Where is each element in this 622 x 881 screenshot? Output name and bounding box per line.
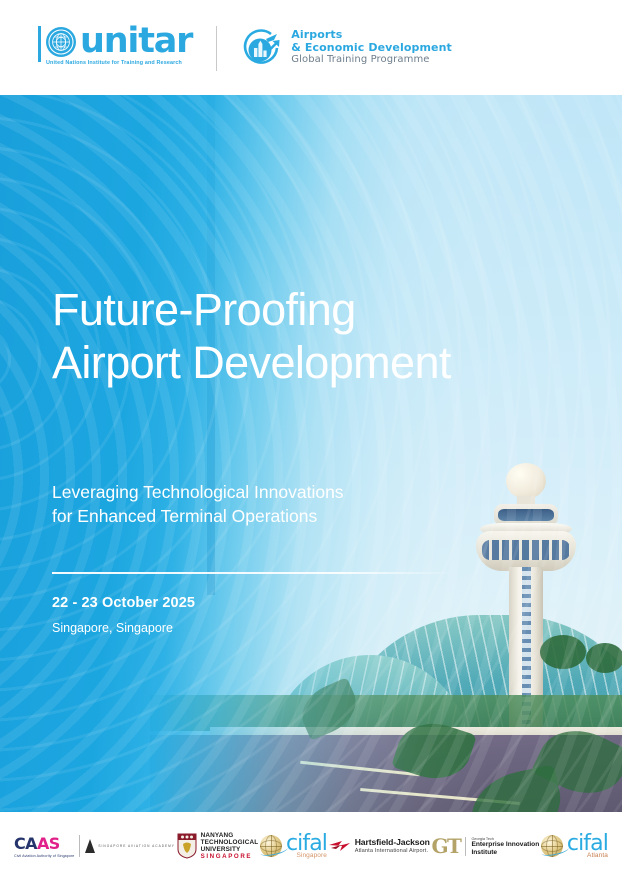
page-subtitle: Leveraging Technological Innovations for…: [52, 480, 352, 528]
page-title: Future-Proofing Airport Development: [52, 283, 492, 389]
event-date: 22 - 23 October 2025: [52, 595, 195, 611]
ntu-text: NANYANG TECHNOLOGICAL UNIVERSITY SINGAPO…: [201, 832, 259, 862]
partner-logo-caas: CAAS Civil Aviation Authority of Singapo…: [14, 834, 175, 858]
poster-page: unitar United Nations Institute for Trai…: [0, 0, 622, 881]
un-emblem-icon: [46, 27, 76, 57]
caas-wordmark: CAAS: [14, 834, 74, 853]
ntu-line3: UNIVERSITY: [201, 846, 259, 853]
unitar-accent-bar: [38, 26, 41, 62]
header-logo-row: unitar United Nations Institute for Trai…: [38, 24, 452, 72]
partner-footer: CAAS Civil Aviation Authority of Singapo…: [0, 812, 622, 881]
programme-line3: Global Training Programme: [291, 54, 452, 67]
unitar-wordmark: unitar: [80, 25, 192, 57]
ntu-line1: NANYANG: [201, 832, 259, 839]
ntu-line2: TECHNOLOGICAL: [201, 839, 259, 846]
event-location: Singapore, Singapore: [52, 621, 173, 635]
hartsfield-line1: Hartsfield-Jackson: [355, 838, 430, 848]
gt-line1: Enterprise Innovation: [471, 841, 539, 849]
hero-divider-rule: [52, 572, 612, 574]
hero-banner: Future-Proofing Airport Development Leve…: [0, 95, 622, 812]
unitar-logo: unitar United Nations Institute for Trai…: [38, 24, 192, 72]
wave-pattern-overlay-secondary: [0, 95, 622, 812]
partner-logo-ntu: NANYANG TECHNOLOGICAL UNIVERSITY SINGAPO…: [177, 832, 259, 862]
partner-logo-cifal-atlanta: cifal Atlanta: [541, 834, 608, 859]
caas-secondary-text: SINGAPORE AVIATION ACADEMY: [98, 844, 175, 848]
cifal-wordmark: cifal: [286, 834, 327, 854]
gt-line2: Institute: [471, 849, 539, 857]
aviation-academy-icon: [85, 839, 95, 853]
header-divider: [216, 26, 217, 71]
programme-line1: Airports: [291, 29, 452, 42]
programme-text: Airports & Economic Development Global T…: [291, 29, 452, 67]
ntu-line4: SINGAPORE: [201, 853, 259, 861]
partner-logo-georgia-tech: GT Georgia Tech Enterprise Innovation In…: [431, 836, 539, 856]
partner-logo-row: CAAS Civil Aviation Authority of Singapo…: [0, 832, 622, 862]
partner-logo-hartsfield-jackson: Hartsfield-Jackson Atlanta International…: [329, 838, 430, 855]
gt-monogram-icon: GT: [431, 836, 460, 856]
caas-separator: [79, 835, 80, 857]
unitar-tagline: United Nations Institute for Training an…: [46, 60, 192, 66]
hartsfield-line2: Atlanta International Airport.: [355, 848, 430, 855]
programme-line2: & Economic Development: [291, 42, 452, 55]
partner-logo-cifal-singapore: cifal Singapore: [260, 834, 327, 859]
ntu-crest-icon: [177, 833, 197, 859]
unitar-wordmark-wrap: unitar: [80, 25, 192, 57]
programme-logo: Airports & Economic Development Global T…: [241, 27, 452, 69]
airport-growth-icon: [241, 27, 283, 69]
hartsfield-bird-icon: [329, 838, 351, 854]
gt-text: Georgia Tech Enterprise Innovation Insti…: [465, 837, 539, 857]
caas-tagline: Civil Aviation Authority of Singapore: [14, 854, 74, 858]
cifal-wordmark: cifal: [567, 834, 608, 854]
page-header: unitar United Nations Institute for Trai…: [0, 0, 622, 95]
